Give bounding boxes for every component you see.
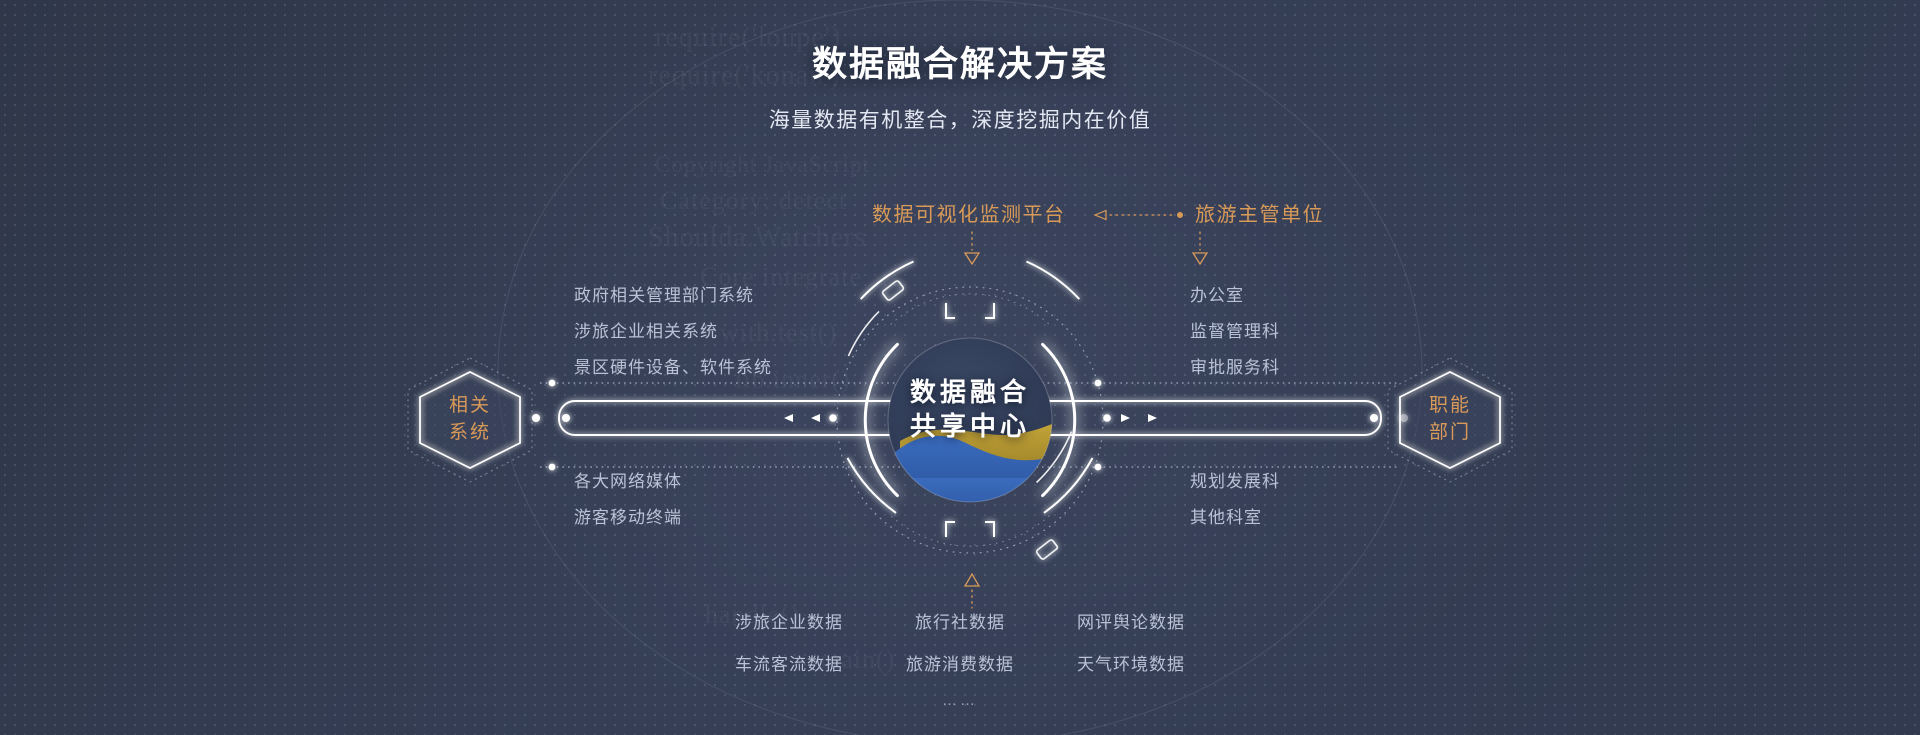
bottom-data-5: 天气环境数据 — [1077, 650, 1185, 675]
bottom-data-sources: 涉旅企业数据 旅行社数据 网评舆论数据 车流客流数据 旅游消费数据 天气环境数据… — [735, 608, 1185, 709]
bottom-data-more: …… — [735, 692, 1185, 709]
infographic-canvas: require('loupe') require('konan') Copyri… — [0, 0, 1920, 735]
center-sphere-label: 数据融合 共享中心 — [845, 376, 1095, 444]
left-source-3: 各大网络媒体 — [574, 467, 682, 492]
bottom-data-4: 旅游消费数据 — [906, 650, 1014, 675]
bottom-data-row-1: 涉旅企业数据 旅行社数据 网评舆论数据 — [735, 608, 1185, 633]
badge-related-systems[interactable]: 相关 系统 — [404, 356, 536, 484]
badge-line-2: 部门 — [1429, 420, 1471, 447]
right-department-4: 其他科室 — [1190, 503, 1262, 528]
center-line-1: 数据融合 — [845, 376, 1095, 410]
badge-line-1: 职能 — [1429, 393, 1471, 420]
badge-line-2: 系统 — [449, 420, 491, 447]
bottom-data-3: 车流客流数据 — [735, 650, 843, 675]
badge-functional-departments[interactable]: 职能 部门 — [1384, 356, 1516, 484]
bottom-data-2: 网评舆论数据 — [1077, 608, 1185, 633]
right-department-2: 审批服务科 — [1190, 353, 1280, 378]
left-source-2: 景区硬件设备、软件系统 — [574, 353, 772, 378]
bottom-data-1: 旅行社数据 — [915, 608, 1005, 633]
left-source-4: 游客移动终端 — [574, 503, 682, 528]
badge-line-1: 相关 — [449, 393, 491, 420]
center-line-2: 共享中心 — [845, 410, 1095, 444]
badge-functional-departments-text: 职能 部门 — [1384, 356, 1516, 484]
badge-related-systems-text: 相关 系统 — [404, 356, 536, 484]
bottom-data-0: 涉旅企业数据 — [735, 608, 843, 633]
bottom-data-row-2: 车流客流数据 旅游消费数据 天气环境数据 — [735, 650, 1185, 675]
left-source-1: 涉旅企业相关系统 — [574, 317, 718, 342]
right-department-3: 规划发展科 — [1190, 467, 1280, 492]
right-department-1: 监督管理科 — [1190, 317, 1280, 342]
right-department-0: 办公室 — [1190, 281, 1244, 306]
left-source-0: 政府相关管理部门系统 — [574, 281, 754, 306]
